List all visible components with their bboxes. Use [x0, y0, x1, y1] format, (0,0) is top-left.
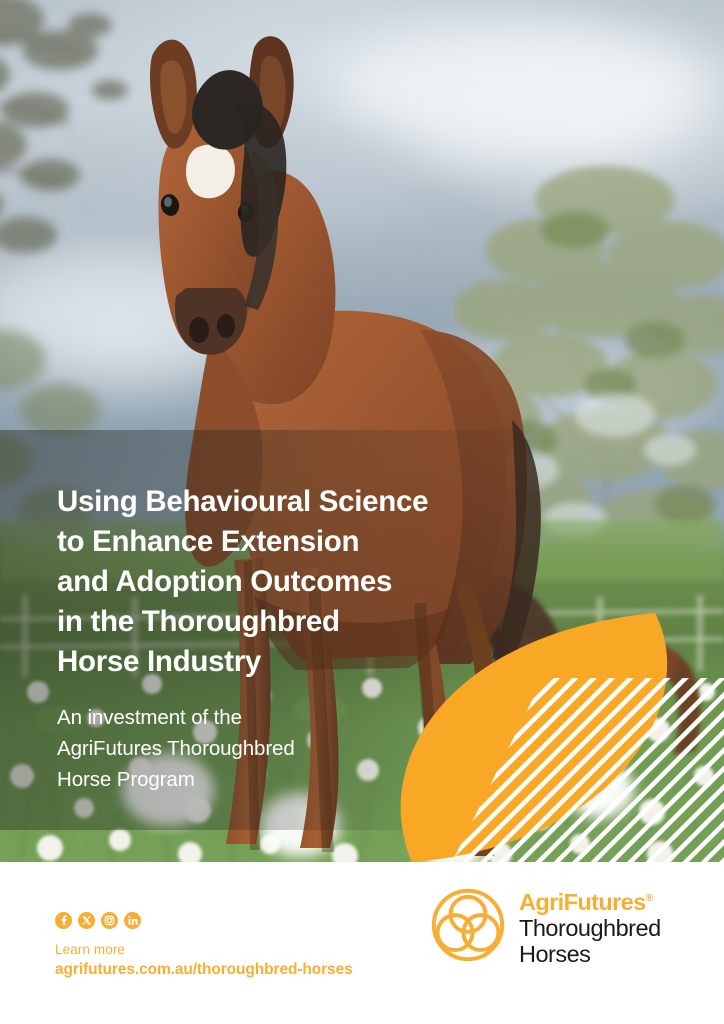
subtitle-line: AgriFutures Thoroughbred: [57, 733, 387, 764]
agrifutures-trefoil-logo-icon: [430, 887, 506, 963]
linkedin-icon[interactable]: [124, 912, 141, 929]
facebook-icon[interactable]: [55, 912, 72, 929]
title-line: Horse Industry: [57, 642, 487, 682]
x-twitter-icon[interactable]: [78, 912, 95, 929]
website-url-link[interactable]: agrifutures.com.au/thoroughbred-horses: [55, 959, 353, 980]
cover-photo: Using Behavioural Science to Enhance Ext…: [0, 0, 724, 862]
page-subtitle: An investment of the AgriFutures Thoroug…: [57, 702, 387, 795]
subtitle-line: Horse Program: [57, 764, 387, 795]
title-line: and Adoption Outcomes: [57, 562, 487, 602]
logo-wordmark: AgriFutures® Thoroughbred Horses: [519, 884, 661, 967]
logo-brand-name: AgriFutures®: [519, 886, 661, 915]
footer-bar: Learn more agrifutures.com.au/thoroughbr…: [0, 862, 724, 1024]
instagram-icon[interactable]: [101, 912, 118, 929]
logo-program-line-1: Thoroughbred: [519, 915, 661, 941]
page-title: Using Behavioural Science to Enhance Ext…: [57, 482, 487, 682]
registered-mark: ®: [646, 893, 653, 904]
title-line: in the Thoroughbred: [57, 602, 487, 642]
cover-page: Using Behavioural Science to Enhance Ext…: [0, 0, 724, 1024]
agrifutures-logo: AgriFutures® Thoroughbred Horses: [430, 884, 661, 967]
social-links: [55, 912, 141, 929]
subtitle-line: An investment of the: [57, 702, 387, 733]
learn-more-label: Learn more: [55, 940, 125, 959]
logo-program-line-2: Horses: [519, 941, 661, 967]
title-line: Using Behavioural Science: [57, 482, 487, 522]
title-line: to Enhance Extension: [57, 522, 487, 562]
